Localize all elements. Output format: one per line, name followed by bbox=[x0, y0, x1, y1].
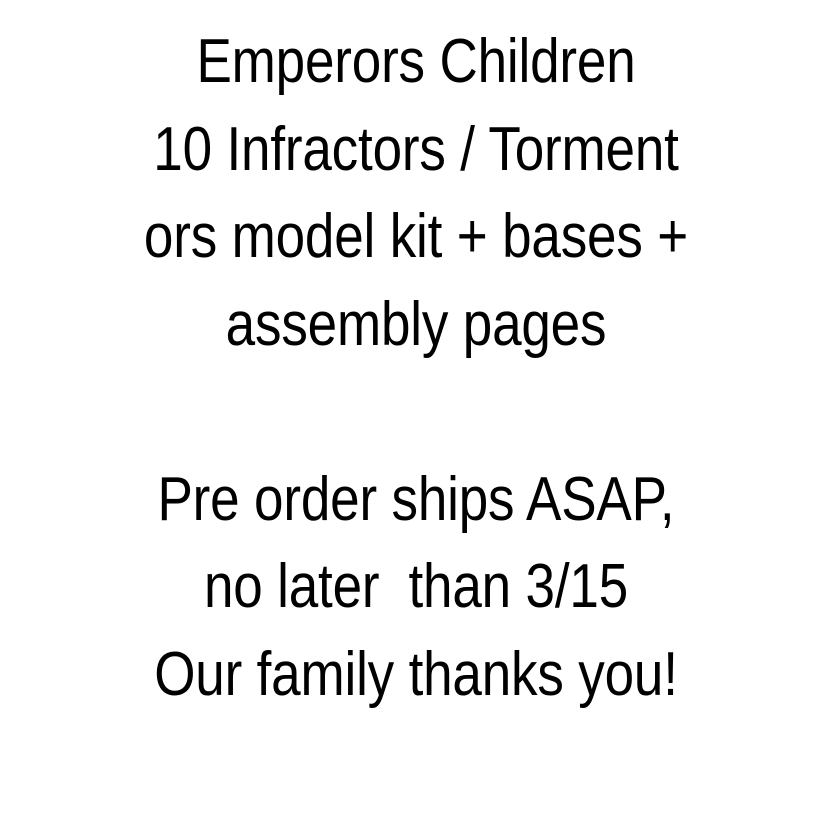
product-title-line-3: ors model kit + bases + bbox=[60, 193, 771, 281]
product-title-line-2: 10 Infractors / Torment bbox=[60, 106, 771, 194]
product-title-block: Emperors Children 10 Infractors / Tormen… bbox=[0, 18, 832, 368]
listing-text-card: Emperors Children 10 Infractors / Tormen… bbox=[0, 0, 832, 816]
shipping-note-line-3: Our family thanks you! bbox=[60, 631, 771, 719]
product-title-line-1: Emperors Children bbox=[60, 18, 771, 106]
shipping-note-block: Pre order ships ASAP, no later than 3/15… bbox=[0, 456, 832, 719]
shipping-note-line-2: no later than 3/15 bbox=[60, 543, 771, 631]
product-title-line-4: assembly pages bbox=[60, 281, 771, 369]
shipping-note-line-1: Pre order ships ASAP, bbox=[60, 456, 771, 544]
paragraph-spacer bbox=[60, 368, 771, 456]
